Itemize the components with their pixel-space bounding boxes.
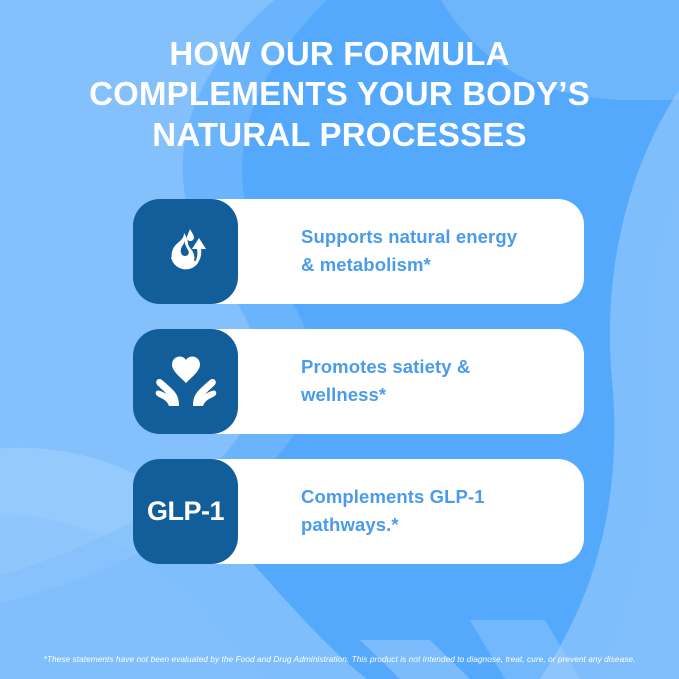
benefit-card-list: Supports natural energy & metabolism* <box>0 199 679 564</box>
benefit-card-energy[interactable]: Supports natural energy & metabolism* <box>133 199 584 304</box>
benefit-card-body: Complements GLP-1 pathways.* <box>179 459 584 564</box>
footer-disclaimer: *These statements have not been evaluate… <box>0 649 679 667</box>
benefit-text-line-2: wellness* <box>301 381 470 409</box>
infographic-page: HOW OUR FORMULA COMPLEMENTS YOUR BODY’S … <box>0 0 679 679</box>
benefit-text-line-1: Promotes satiety & <box>301 353 470 381</box>
glp1-badge-label: GLP-1 <box>147 496 224 527</box>
benefit-text-line-2: pathways.* <box>301 511 485 539</box>
glp1-badge-icon: GLP-1 <box>133 459 238 564</box>
benefit-card-body: Supports natural energy & metabolism* <box>179 199 584 304</box>
benefit-card-text: Complements GLP-1 pathways.* <box>301 483 485 539</box>
benefit-card-glp1[interactable]: Complements GLP-1 pathways.* GLP-1 <box>133 459 584 564</box>
benefit-card-text: Supports natural energy & metabolism* <box>301 223 517 279</box>
benefit-card-text: Promotes satiety & wellness* <box>301 353 470 409</box>
flame-arrow-icon <box>133 199 238 304</box>
page-title-line-3: NATURAL PROCESSES <box>40 115 639 155</box>
page-title: HOW OUR FORMULA COMPLEMENTS YOUR BODY’S … <box>0 0 679 155</box>
benefit-text-line-2: & metabolism* <box>301 251 517 279</box>
benefit-text-line-1: Supports natural energy <box>301 223 517 251</box>
page-title-line-2: COMPLEMENTS YOUR BODY’S <box>40 74 639 114</box>
hands-heart-icon <box>133 329 238 434</box>
footer-disclaimer-text: *These statements have not been evaluate… <box>44 654 636 664</box>
benefit-card-body: Promotes satiety & wellness* <box>179 329 584 434</box>
benefit-text-line-1: Complements GLP-1 <box>301 483 485 511</box>
page-title-line-1: HOW OUR FORMULA <box>40 34 639 74</box>
benefit-card-satiety[interactable]: Promotes satiety & wellness* <box>133 329 584 434</box>
